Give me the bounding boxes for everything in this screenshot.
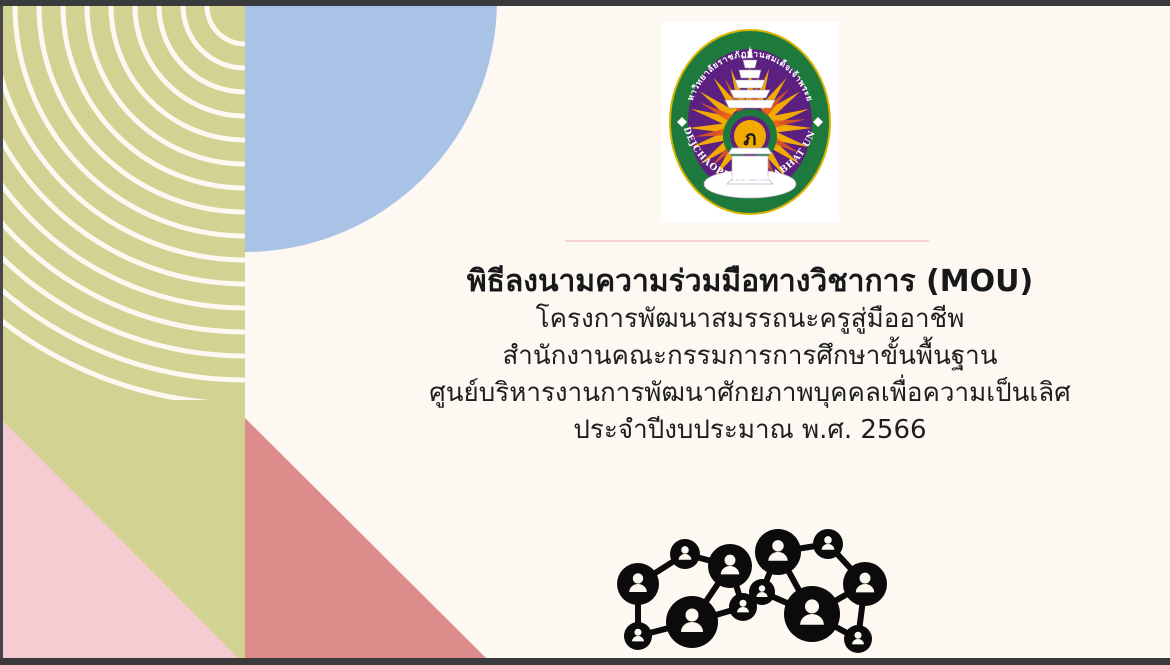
university-logo: ภ มหาวิทยาลัยราชภัฏบ้านสมเด็จเจ้าพระยา B… xyxy=(661,22,839,222)
svg-text:ภ: ภ xyxy=(743,126,756,150)
subtitle-line-3: สำนักงานคณะกรรมการการศึกษาขั้นพื้นฐาน xyxy=(370,338,1130,375)
presentation-slide: ภ มหาวิทยาลัยราชภัฏบ้านสมเด็จเจ้าพระยา B… xyxy=(0,0,1170,665)
decorative-left-panel xyxy=(0,0,245,665)
subtitle-line-4: ศูนย์บริหารงานการพัฒนาศักยภาพบุคคลเพื่อค… xyxy=(370,375,1130,412)
pink-triangle-decoration xyxy=(0,418,245,665)
title-block: พิธีลงนามความร่วมมือทางวิชาการ (MOU) โคร… xyxy=(370,262,1130,449)
slide-content: ภ มหาวิทยาลัยราชภัฏบ้านสมเด็จเจ้าพระยา B… xyxy=(430,0,1070,665)
subtitle-line-2: โครงการพัฒนาสมรรถนะครูสู่มืออาชีพ xyxy=(370,301,1130,338)
concentric-arcs-decoration xyxy=(0,0,245,400)
window-edge-left xyxy=(0,0,3,665)
title-divider xyxy=(565,240,929,242)
people-network-icon xyxy=(600,524,900,660)
page-title: พิธีลงนามความร่วมมือทางวิชาการ (MOU) xyxy=(370,262,1130,301)
subtitle-line-5: ประจำปีงบประมาณ พ.ศ. 2566 xyxy=(370,412,1130,449)
